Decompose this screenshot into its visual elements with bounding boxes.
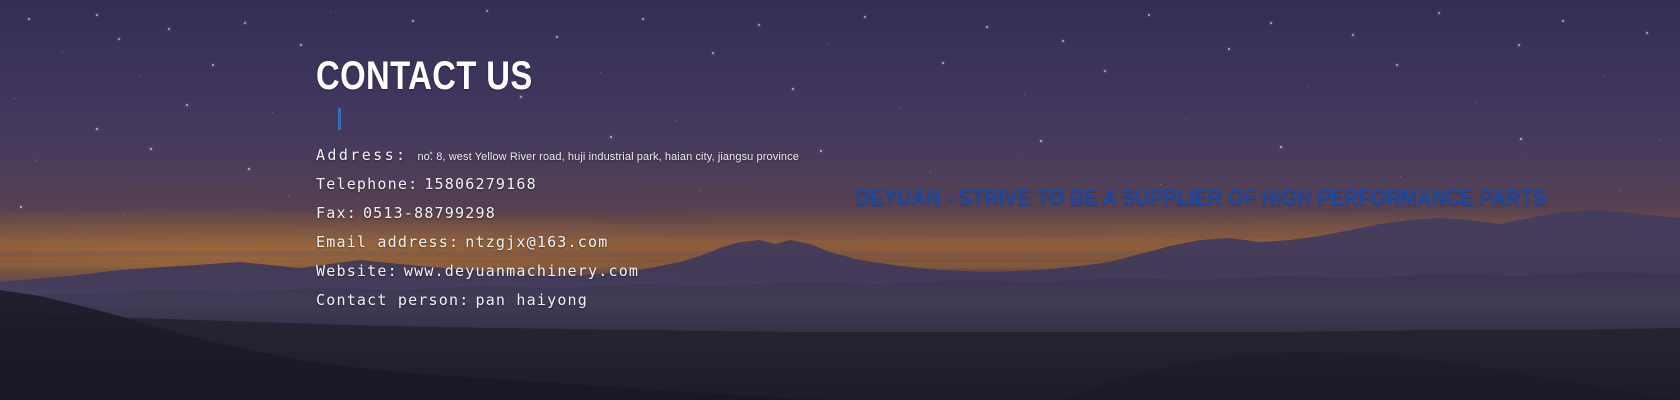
banner-content: CONTACT US Address: no. 8, west Yellow R…	[0, 0, 1680, 400]
contact-row-website: Website: www.deyuanmachinery.com	[316, 262, 876, 291]
title-accent-bar	[338, 108, 341, 130]
contact-label-address: Address:	[316, 146, 407, 164]
contact-row-contact-person: Contact person: pan haiyong	[316, 291, 876, 320]
contact-label-contact-person: Contact person:	[316, 291, 469, 309]
contact-value-address: no. 8, west Yellow River road, huji indu…	[417, 151, 798, 163]
contact-value-email[interactable]: ntzgjx@163.com	[465, 233, 608, 251]
contact-footer-banner: CONTACT US Address: no. 8, west Yellow R…	[0, 0, 1680, 400]
page-title: CONTACT US	[316, 54, 775, 98]
contact-details-list: Address: no. 8, west Yellow River road, …	[316, 146, 876, 320]
contact-value-telephone[interactable]: 15806279168	[424, 175, 537, 193]
contact-row-telephone: Telephone: 15806279168	[316, 175, 876, 204]
contact-value-website[interactable]: www.deyuanmachinery.com	[404, 262, 639, 280]
company-tagline: DEYUAN - STRIVE TO BE A SUPPLIER OF HIGH…	[856, 184, 1546, 210]
contact-label-website: Website:	[316, 262, 398, 280]
contact-label-fax: Fax:	[316, 204, 357, 222]
contact-row-email: Email address: ntzgjx@163.com	[316, 233, 876, 262]
contact-value-contact-person: pan haiyong	[475, 291, 588, 309]
contact-label-email: Email address:	[316, 233, 459, 251]
contact-value-fax: 0513-88799298	[363, 204, 496, 222]
contact-info-block: CONTACT US Address: no. 8, west Yellow R…	[316, 54, 876, 320]
contact-row-fax: Fax: 0513-88799298	[316, 204, 876, 233]
contact-row-address: Address: no. 8, west Yellow River road, …	[316, 146, 876, 175]
contact-label-telephone: Telephone:	[316, 175, 418, 193]
